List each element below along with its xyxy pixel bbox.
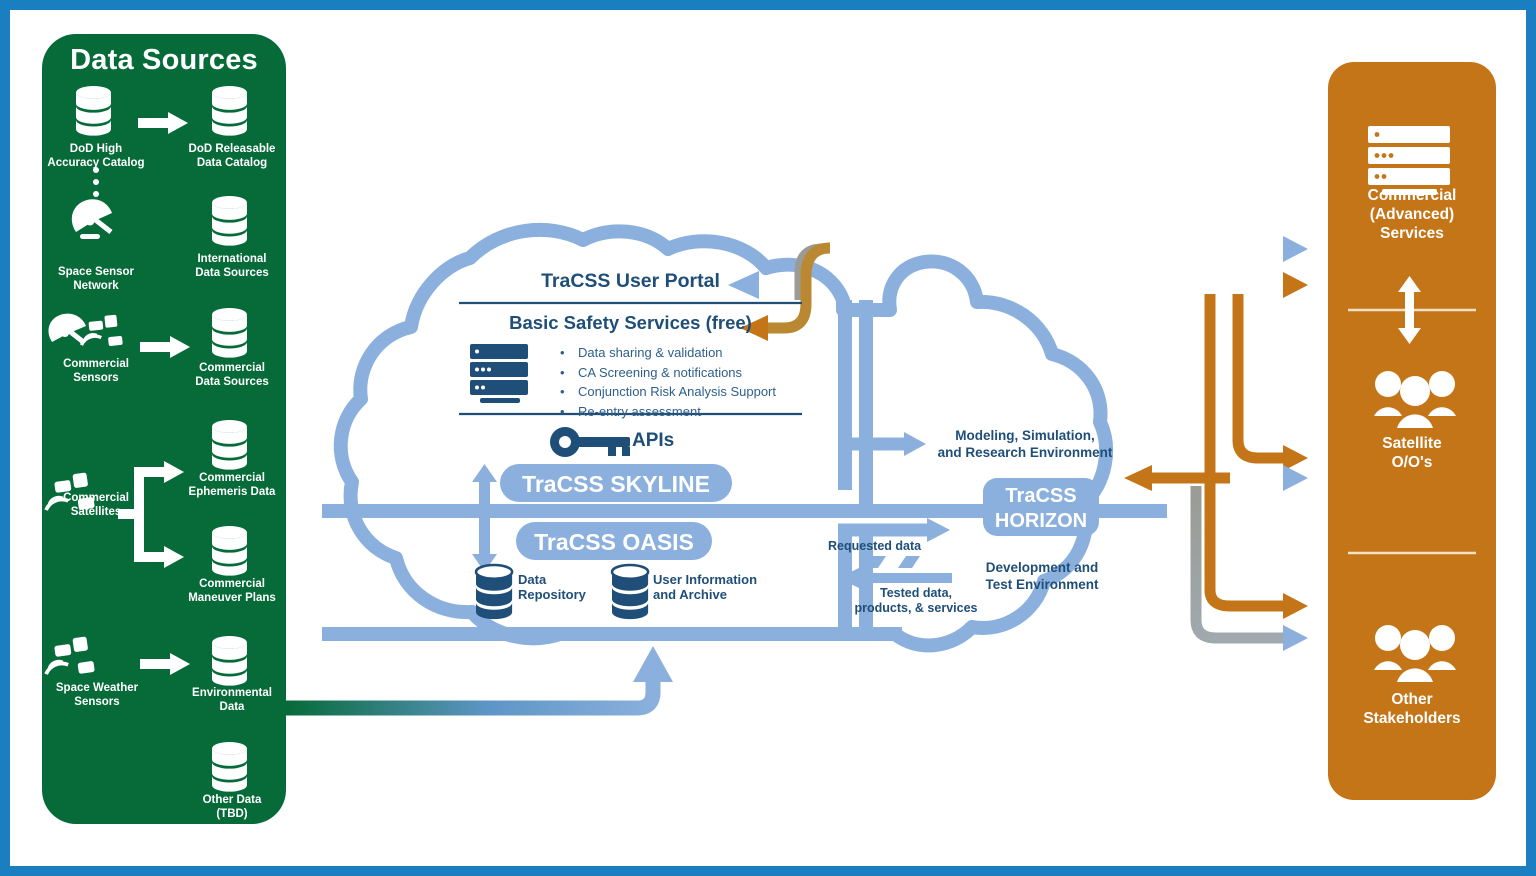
- source-label-commercial-satellites: Commercial Satellites: [36, 492, 156, 519]
- catalog-label-environmental-data: Environmental Data: [171, 687, 293, 714]
- apis-label: APIs: [632, 430, 674, 452]
- source-label-commercial-sensors: Commercial Sensors: [36, 358, 156, 385]
- store-label-data-repository: Data Repository: [518, 572, 608, 602]
- store-label-user-information-and-archive: User Information and Archive: [653, 572, 773, 602]
- catalog-label-international-data-sources: International Data Sources: [171, 253, 293, 280]
- modeling-environment-label: Modeling, Simulation, and Research Envir…: [930, 427, 1120, 461]
- tracss-user-portal-title: TraCSS User Portal: [459, 270, 802, 293]
- server-stack-icon: [1368, 126, 1450, 195]
- basic-safety-services-title: Basic Safety Services (free): [459, 312, 802, 334]
- data-sources-title: Data Sources: [42, 44, 286, 77]
- stakeholder-label-commercial-advanced-services: Commercial (Advanced) Services: [1332, 186, 1492, 243]
- list-item: •Data sharing & validation: [560, 343, 810, 363]
- key-icon: [550, 427, 630, 457]
- diagram-root: Data Sources DoD High Accuracy Catalog S…: [0, 0, 1536, 876]
- list-item: •Conjunction Risk Analysis Support: [560, 382, 810, 402]
- database-icon: [612, 565, 648, 619]
- source-label-space-sensor-network: Space Sensor Network: [36, 266, 156, 293]
- source-label-space-weather-sensors: Space Weather Sensors: [30, 682, 164, 709]
- list-item: •Re-entry assessment: [560, 402, 810, 422]
- tested-data-label: Tested data, products, & services: [836, 586, 996, 616]
- requested-data-label: Requested data: [828, 539, 958, 554]
- catalog-label-commercial-ephemeris-data: Commercial Ephemeris Data: [168, 472, 296, 499]
- database-icon: [476, 565, 512, 619]
- arrow-horizon-to-satellite: [1167, 465, 1308, 491]
- horizon-pill-label: TraCSS HORIZON: [983, 484, 1099, 534]
- catalog-label-dod-releasable-data-catalog: DoD Releasable Data Catalog: [171, 143, 293, 170]
- basic-services-list: •Data sharing & validation •CA Screening…: [560, 343, 810, 421]
- diagram-svg-layer: [0, 0, 1536, 876]
- orange-distribution-trunk: [1210, 286, 1308, 619]
- catalog-label-commercial-data-sources: Commercial Data Sources: [171, 362, 293, 389]
- catalog-label-other-data-tbd: Other Data (TBD): [171, 794, 293, 821]
- skyline-pill-label: TraCSS SKYLINE: [500, 471, 732, 498]
- oasis-pill-label: TraCSS OASIS: [516, 529, 712, 556]
- stakeholder-label-satellite-oos: Satellite O/O's: [1332, 434, 1492, 472]
- stakeholder-label-other-stakeholders: Other Stakeholders: [1332, 690, 1492, 728]
- list-item: •CA Screening & notifications: [560, 363, 810, 383]
- source-label-dod-high-accuracy-catalog: DoD High Accuracy Catalog: [36, 143, 156, 170]
- env-data-to-cloud-arrow: [286, 646, 673, 708]
- catalog-label-commercial-maneuver-plans: Commercial Maneuver Plans: [168, 578, 296, 605]
- server-stack-icon: [470, 344, 528, 403]
